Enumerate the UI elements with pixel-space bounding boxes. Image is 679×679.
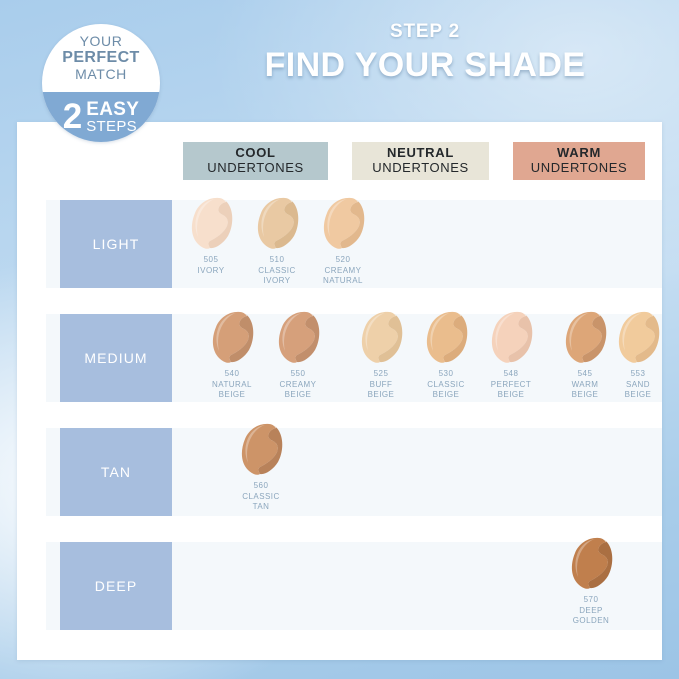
shade-name: CREAMY BEIGE	[280, 380, 317, 400]
shade-swatch-548[interactable]: 548PERFECT BEIGE	[483, 310, 539, 401]
row-label-text: LIGHT	[93, 236, 140, 252]
header: STEP 2 FIND YOUR SHADE	[190, 22, 660, 85]
perfect-match-badge: YOUR PERFECT MATCH 2 EASY STEPS	[42, 24, 160, 142]
badge-match-text: MATCH	[75, 67, 127, 83]
shade-name: SAND BEIGE	[625, 380, 652, 400]
foundation-blob-icon	[563, 536, 619, 594]
badge-perfect-text: PERFECT	[62, 49, 139, 67]
badge-your-text: YOUR	[80, 34, 123, 50]
shade-name: NATURAL BEIGE	[212, 380, 252, 400]
foundation-blob-icon	[233, 422, 289, 480]
undertone-sublabel: UNDERTONES	[372, 161, 469, 176]
foundation-blob-icon	[610, 310, 666, 368]
shade-name: WARM BEIGE	[572, 380, 599, 400]
row-label-text: DEEP	[95, 578, 138, 594]
shade-code: 570	[584, 595, 599, 604]
shade-code: 540	[225, 369, 240, 378]
foundation-blob-icon	[270, 310, 326, 368]
shade-name: PERFECT BEIGE	[491, 380, 532, 400]
row-label-tan: TAN	[60, 428, 172, 516]
foundation-blob-icon	[204, 310, 260, 368]
undertone-name: COOL	[235, 146, 275, 161]
row-label-text: MEDIUM	[84, 350, 147, 366]
shade-caption-540: 540NATURAL BEIGE	[204, 369, 260, 401]
shade-code: 545	[578, 369, 593, 378]
shade-name: IVORY	[198, 266, 225, 275]
shade-caption-545: 545WARM BEIGE	[557, 369, 613, 401]
foundation-blob-icon	[557, 310, 613, 368]
foundation-blob-icon	[249, 196, 305, 254]
badge-bottom-half: 2 EASY STEPS	[42, 92, 160, 142]
badge-step-count: 2	[63, 99, 82, 134]
shade-swatch-545[interactable]: 545WARM BEIGE	[557, 310, 613, 401]
page-title: FIND YOUR SHADE	[190, 46, 660, 85]
badge-steps-stack: EASY STEPS	[86, 100, 139, 134]
undertone-sublabel: UNDERTONES	[531, 161, 628, 176]
shade-code: 520	[336, 255, 351, 264]
shade-caption-530: 530CLASSIC BEIGE	[418, 369, 474, 401]
shade-name: CLASSIC IVORY	[258, 266, 295, 286]
undertone-name: NEUTRAL	[387, 146, 454, 161]
shade-caption-520: 520CREAMY NATURAL	[315, 255, 371, 287]
shade-swatch-553[interactable]: 553SAND BEIGE	[610, 310, 666, 401]
row-label-deep: DEEP	[60, 542, 172, 630]
shade-swatch-520[interactable]: 520CREAMY NATURAL	[315, 196, 371, 287]
step-label: STEP 2	[190, 22, 660, 43]
shade-caption-510: 510CLASSIC IVORY	[249, 255, 305, 287]
badge-easy-text: EASY	[86, 100, 139, 119]
shade-swatch-510[interactable]: 510CLASSIC IVORY	[249, 196, 305, 287]
shade-swatch-570[interactable]: 570DEEP GOLDEN	[563, 536, 619, 627]
shade-swatch-530[interactable]: 530CLASSIC BEIGE	[418, 310, 474, 401]
shade-code: 548	[504, 369, 519, 378]
undertone-header-cool: COOLUNDERTONES	[183, 142, 328, 180]
shade-code: 530	[439, 369, 454, 378]
shade-caption-550: 550CREAMY BEIGE	[270, 369, 326, 401]
shade-code: 560	[254, 481, 269, 490]
undertone-sublabel: UNDERTONES	[207, 161, 304, 176]
shade-name: CREAMY NATURAL	[323, 266, 363, 286]
shade-swatch-560[interactable]: 560CLASSIC TAN	[233, 422, 289, 513]
row-label-light: LIGHT	[60, 200, 172, 288]
badge-top-half: YOUR PERFECT MATCH	[42, 24, 160, 92]
shade-name: CLASSIC BEIGE	[427, 380, 464, 400]
undertone-header-neutral: NEUTRALUNDERTONES	[352, 142, 489, 180]
foundation-blob-icon	[483, 310, 539, 368]
foundation-blob-icon	[315, 196, 371, 254]
shade-swatch-540[interactable]: 540NATURAL BEIGE	[204, 310, 260, 401]
shade-swatch-525[interactable]: 525BUFF BEIGE	[353, 310, 409, 401]
shade-code: 505	[204, 255, 219, 264]
row-label-text: TAN	[101, 464, 131, 480]
foundation-blob-icon	[353, 310, 409, 368]
shade-name: CLASSIC TAN	[242, 492, 279, 512]
shade-swatch-550[interactable]: 550CREAMY BEIGE	[270, 310, 326, 401]
shade-code: 525	[374, 369, 389, 378]
shade-caption-548: 548PERFECT BEIGE	[483, 369, 539, 401]
shade-caption-553: 553SAND BEIGE	[610, 369, 666, 401]
shade-name: BUFF BEIGE	[368, 380, 395, 400]
shade-code: 553	[631, 369, 646, 378]
shade-chart-card: COOLUNDERTONESNEUTRALUNDERTONESWARMUNDER…	[17, 122, 662, 660]
shade-caption-525: 525BUFF BEIGE	[353, 369, 409, 401]
shade-caption-570: 570DEEP GOLDEN	[563, 595, 619, 627]
shade-name: DEEP GOLDEN	[573, 606, 610, 626]
shade-code: 510	[270, 255, 285, 264]
row-label-medium: MEDIUM	[60, 314, 172, 402]
badge-steps-text: STEPS	[86, 119, 139, 134]
shade-code: 550	[291, 369, 306, 378]
poster-root: STEP 2 FIND YOUR SHADE YOUR PERFECT MATC…	[0, 0, 679, 679]
undertone-name: WARM	[557, 146, 601, 161]
foundation-blob-icon	[418, 310, 474, 368]
foundation-blob-icon	[183, 196, 239, 254]
shade-swatch-505[interactable]: 505IVORY	[183, 196, 239, 276]
shade-caption-505: 505IVORY	[183, 255, 239, 276]
undertone-header-warm: WARMUNDERTONES	[513, 142, 645, 180]
shade-caption-560: 560CLASSIC TAN	[233, 481, 289, 513]
